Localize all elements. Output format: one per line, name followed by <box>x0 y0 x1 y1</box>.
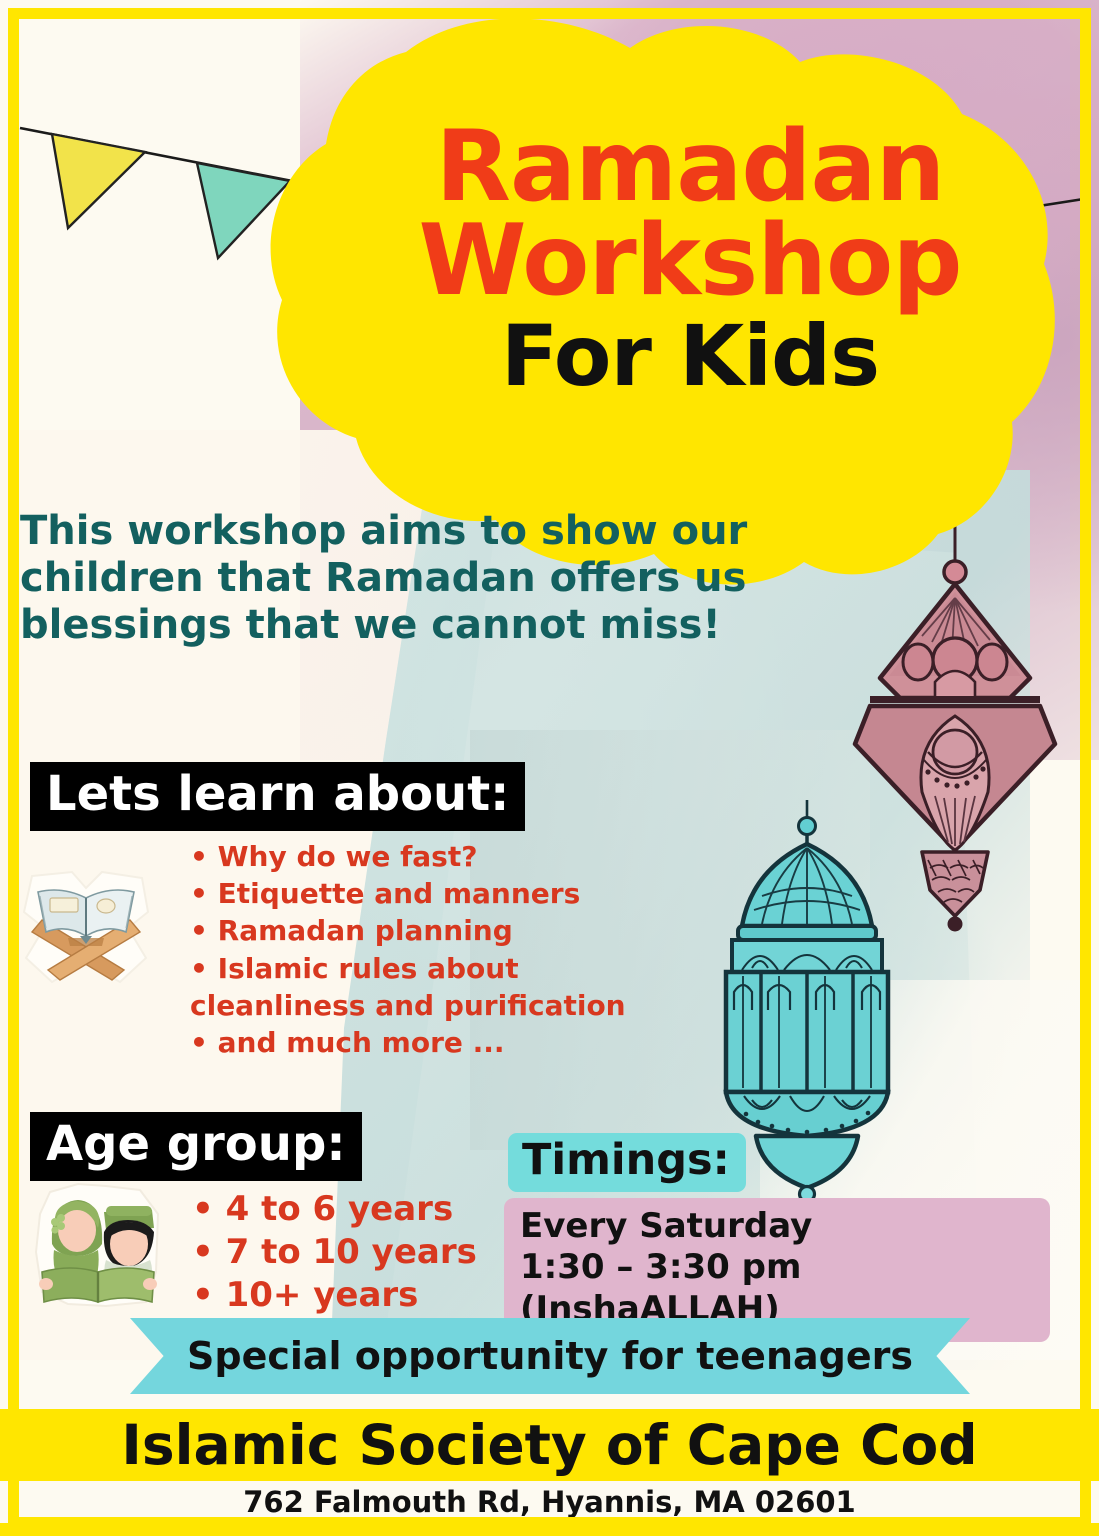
topic-label: and much more ... <box>218 1026 505 1059</box>
poster-title: Ramadan Workshop For Kids <box>330 120 1050 400</box>
topic-label: Ramadan planning <box>218 914 513 947</box>
title-line-workshop: Workshop <box>330 214 1050 308</box>
age-group-value: 4 to 6 years <box>226 1189 454 1229</box>
timings-day: Every Saturday <box>520 1206 1036 1247</box>
title-line-for-kids: For Kids <box>330 312 1050 400</box>
list-item: • Ramadan planning <box>190 912 690 949</box>
intro-paragraph: This workshop aims to show our children … <box>20 508 750 650</box>
topics-list: • Why do we fast? • Etiquette and manner… <box>190 838 690 1061</box>
two-kids-reading-icon <box>28 1180 168 1310</box>
quran-on-rehal-icon <box>16 866 156 988</box>
age-group-value: 7 to 10 years <box>226 1232 477 1272</box>
timings-hours: 1:30 – 3:30 pm (InshaALLAH) <box>520 1247 1036 1330</box>
age-groups-list: • 4 to 6 years • 7 to 10 years • 10+ yea… <box>192 1188 522 1316</box>
address-text: 762 Falmouth Rd, Hyannis, MA 02601 <box>243 1485 855 1519</box>
list-item: • and much more ... <box>190 1024 690 1061</box>
topic-label: Islamic rules about cleanliness and puri… <box>190 952 626 1022</box>
bottom-yellow-edge <box>0 1523 1099 1536</box>
list-item: • Why do we fast? <box>190 838 690 875</box>
list-item: • 4 to 6 years <box>192 1188 522 1231</box>
timings-heading: Timings: <box>508 1133 746 1192</box>
age-group-label: Age group: <box>30 1112 362 1181</box>
lets-learn-about-label: Lets learn about: <box>30 762 525 831</box>
list-item: • 10+ years <box>192 1274 522 1317</box>
topic-label: Etiquette and manners <box>218 877 581 910</box>
list-item: • Islamic rules about cleanliness and pu… <box>190 950 690 1024</box>
age-group-value: 10+ years <box>226 1275 419 1315</box>
ribbon-label: Special opportunity for teenagers <box>187 1334 913 1378</box>
organization-name: Islamic Society of Cape Cod <box>121 1413 977 1477</box>
organization-bar: Islamic Society of Cape Cod <box>0 1409 1099 1481</box>
list-item: • Etiquette and manners <box>190 875 690 912</box>
topic-label: Why do we fast? <box>218 840 478 873</box>
teenagers-ribbon-banner: Special opportunity for teenagers <box>130 1318 970 1394</box>
ramadan-workshop-poster: Ramadan Workshop For Kids This workshop … <box>0 0 1099 1536</box>
title-line-ramadan: Ramadan <box>330 120 1050 214</box>
list-item: • 7 to 10 years <box>192 1231 522 1274</box>
address-strip: 762 Falmouth Rd, Hyannis, MA 02601 <box>0 1481 1099 1523</box>
